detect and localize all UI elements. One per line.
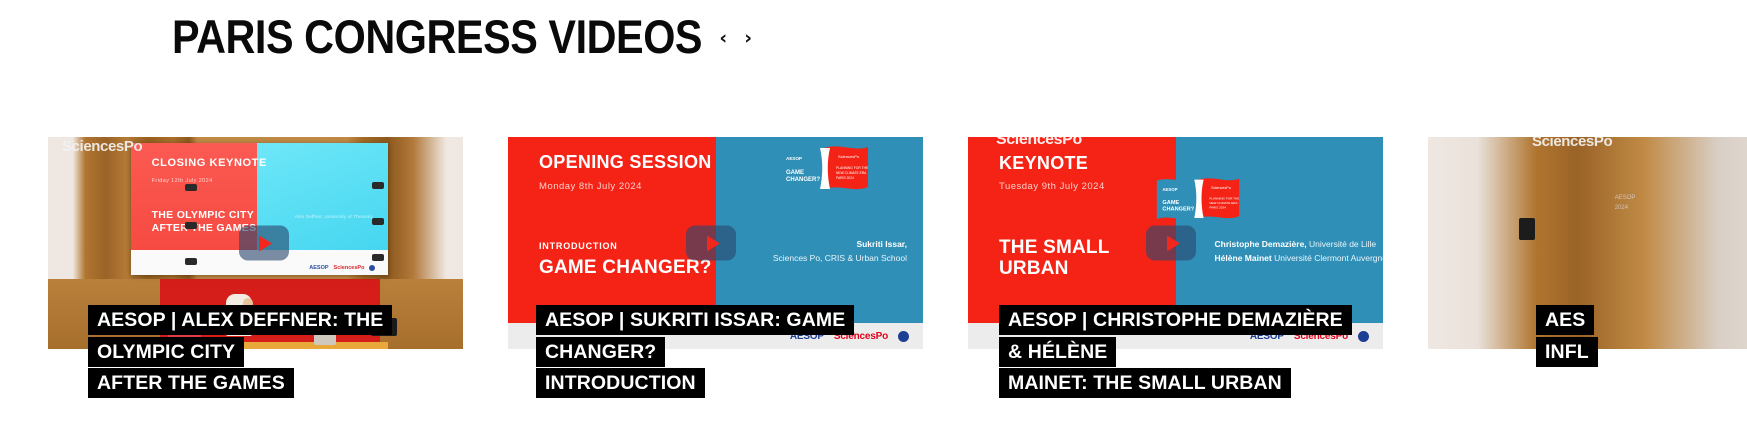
aesop-logo: AESOP [790,331,824,342]
slide-date: Friday 12th July 2024 [152,178,213,184]
circle-mark-icon [1358,331,1369,342]
speaker-affiliation: Université Clermont Auvergne [1274,253,1383,263]
svg-text:CHANGER?: CHANGER? [786,177,820,183]
game-changer-flag-icon: AESOP GAME CHANGER? SciencesPo PLANNING … [778,143,870,205]
svg-text:SciencesPo: SciencesPo [1211,186,1231,190]
photo-wall [1428,137,1747,349]
aesop-logo: AESOP [1250,331,1284,342]
circle-mark-icon [369,265,375,271]
speaker-head [243,298,253,309]
lectern: SciencesPo [168,320,201,341]
svg-text:CHANGER?: CHANGER? [1162,207,1194,213]
video-thumbnail[interactable]: CLOSING KEYNOTE Friday 12th July 2024 TH… [48,137,463,349]
stage-light-icon [372,218,384,225]
sciencespo-logo: SciencesPo [834,331,888,342]
video-thumbnail[interactable]: AESOP2024 SciencesPo [1428,137,1747,349]
game-changer-flag-icon: AESOP GAME CHANGER? SciencesPo PLANNING … [1154,175,1242,233]
brand-watermark: SciencesPo [62,138,142,155]
lectern-label: SciencesPo [168,320,201,332]
video-card[interactable]: CLOSING KEYNOTE Friday 12th July 2024 TH… [48,137,463,349]
stage-table [156,342,388,349]
video-carousel[interactable]: CLOSING KEYNOTE Friday 12th July 2024 TH… [0,137,1680,349]
slide-headline: THE SMALL URBAN [999,237,1110,280]
stage-light-icon [185,222,197,229]
sciencespo-logo: SciencesPo [1294,331,1348,342]
svg-text:NEW CLIMATE ERA: NEW CLIMATE ERA [1209,201,1238,205]
speaker-name: Hélène Mainet [1215,253,1272,263]
video-card[interactable]: SciencesPo KEYNOTE Tuesday 9th July 2024… [968,137,1383,349]
page-title: PARIS CONGRESS VIDEOS [172,13,702,60]
play-triangle [707,235,720,251]
slide-date: Monday 8th July 2024 [539,181,642,192]
video-thumbnail[interactable]: OPENING SESSION Monday 8th July 2024 INT… [508,137,923,349]
video-thumbnail[interactable]: SciencesPo KEYNOTE Tuesday 9th July 2024… [968,137,1383,349]
caption-line: MAINET: THE SMALL URBAN [999,368,1291,398]
slide-footer: AESOP SciencesPo [508,323,923,349]
brand-watermark: SciencesPo [996,137,1082,149]
sciencespo-logo: SciencesPo [334,265,365,271]
slide-logos: AESOP SciencesPo [309,265,375,271]
svg-text:GAME: GAME [786,170,804,176]
speaker-name: Sukriti Issar, [856,239,907,249]
play-icon[interactable] [1146,226,1196,261]
svg-text:SciencesPo: SciencesPo [838,154,860,159]
auditorium-photo: AESOP2024 SciencesPo [1428,137,1747,349]
aesop-logo: AESOP [309,265,328,271]
stage-light-icon [372,182,384,189]
laptop [371,318,397,336]
slide-headline: GAME CHANGER? [539,257,712,278]
play-triangle [259,235,272,251]
svg-text:AESOP: AESOP [786,156,802,161]
photo-stage [48,279,463,349]
circle-mark-icon [898,331,909,342]
brand-watermark: SciencesPo [1532,137,1612,150]
svg-text:PLANNING FOR THE: PLANNING FOR THE [1209,196,1239,200]
svg-text:NEW CLIMATE ERA: NEW CLIMATE ERA [836,171,867,175]
speaker-name: Christophe Demazière, [1215,239,1307,249]
carousel-nav: ‹ › [719,25,752,48]
slide-label: INTRODUCTION [539,241,618,251]
video-card[interactable]: AESOP2024 SciencesPo AES INFL [1428,137,1747,349]
caption-line: AFTER THE GAMES [88,368,294,398]
speaker-affiliation: Sciences Po, CRIS & Urban School [773,251,907,265]
svg-text:AESOP: AESOP [1162,187,1177,192]
paris-congress-videos-page: PARIS CONGRESS VIDEOS ‹ › [0,0,1747,446]
speaker-affiliation: Université de Lille [1309,239,1376,249]
slide-kicker: CLOSING KEYNOTE [152,157,267,169]
slide-date: Tuesday 9th July 2024 [999,181,1105,192]
stage-light-icon [185,184,197,191]
svg-text:PARIS 2024: PARIS 2024 [836,176,854,180]
caption-line: INTRODUCTION [536,368,705,398]
svg-text:GAME: GAME [1162,200,1179,206]
play-icon[interactable] [686,226,736,261]
chevron-right-icon[interactable]: › [744,29,752,48]
stage-light-icon [185,258,197,265]
play-icon[interactable] [239,226,289,261]
chevron-left-icon[interactable]: ‹ [719,29,727,48]
svg-text:PLANNING FOR THE: PLANNING FOR THE [836,166,869,170]
slide-kicker: KEYNOTE [999,153,1088,174]
slide-footer: AESOP SciencesPo [968,323,1383,349]
wall-signage: AESOP2024 [1615,194,1636,213]
slide-speaker: Sukriti Issar, Sciences Po, CRIS & Urban… [773,237,907,266]
slide-speaker: Alex Deffner, University of Thessaly [295,214,373,219]
svg-text:PARIS 2024: PARIS 2024 [1209,206,1226,210]
wall-fixture [1519,218,1535,240]
slide-kicker: OPENING SESSION [539,152,712,173]
video-card[interactable]: OPENING SESSION Monday 8th July 2024 INT… [508,137,923,349]
play-triangle [1167,235,1180,251]
stage-light-icon [372,254,384,261]
slide-speaker: Christophe Demazière, Université de Lill… [1215,237,1383,266]
section-header: PARIS CONGRESS VIDEOS ‹ › [0,0,1747,72]
